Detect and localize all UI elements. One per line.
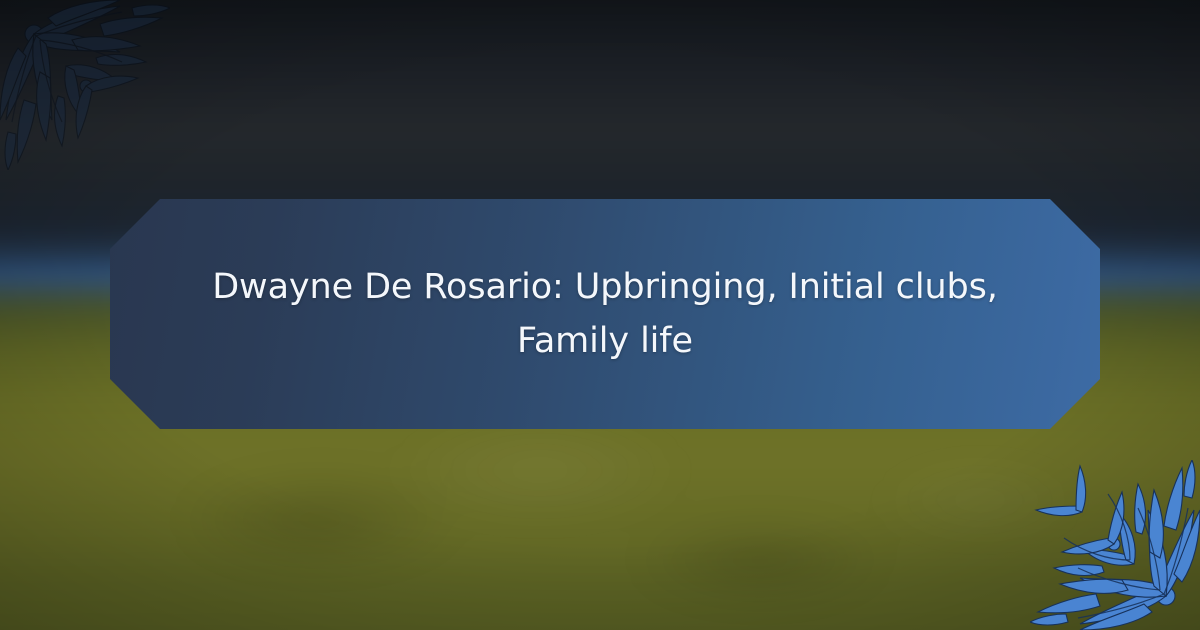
share-card-canvas: Dwayne De Rosario: Upbringing, Initial c… (0, 0, 1200, 630)
title-banner: Dwayne De Rosario: Upbringing, Initial c… (110, 199, 1100, 429)
page-title: Dwayne De Rosario: Upbringing, Initial c… (210, 260, 1000, 369)
